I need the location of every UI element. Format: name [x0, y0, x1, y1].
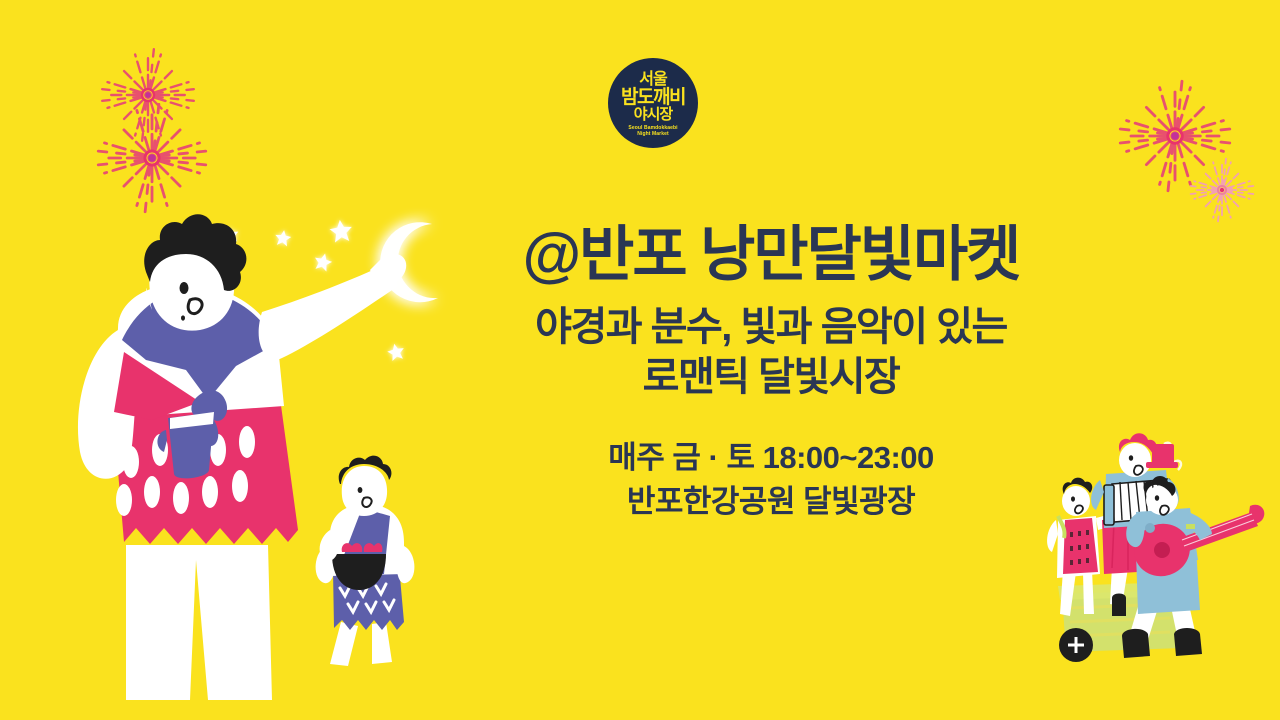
logo-text-line1: 서울: [639, 72, 666, 88]
logo-text-line3: 야시장: [634, 107, 672, 122]
logo-text-line2: 밤도깨비: [621, 88, 685, 107]
subtitle-line-2: 로맨틱 달빛시장: [440, 352, 1102, 402]
schedule-text: 매주 금 · 토 18:00~23:00: [440, 436, 1102, 480]
boot: [1112, 594, 1126, 617]
brand-logo[interactable]: 서울 밤도깨비 야시장 Seoul BamdokkaebiNight Marke…: [608, 58, 698, 148]
poster-info-block: 매주 금 · 토 18:00~23:00 반포한강공원 달빛광장: [440, 436, 1102, 524]
boot: [1122, 629, 1150, 658]
location-text: 반포한강공원 달빛광장: [440, 480, 1102, 524]
poster-subtitle: 야경과 분수, 빛과 음악이 있는 로맨틱 달빛시장: [440, 302, 1102, 402]
boot: [1174, 628, 1202, 656]
logo-circle: 서울 밤도깨비 야시장 Seoul BamdokkaebiNight Marke…: [608, 58, 698, 148]
poster-text-block: @반포 낭만달빛마켓 야경과 분수, 빛과 음악이 있는 로맨틱 달빛시장 매주…: [440, 222, 1102, 524]
logo-text-english: Seoul BamdokkaebiNight Market: [628, 125, 677, 137]
subtitle-line-1: 야경과 분수, 빛과 음악이 있는: [440, 302, 1102, 352]
page-title: @반포 낭만달빛마켓: [440, 222, 1102, 288]
poster-canvas: 서울 밤도깨비 야시장 Seoul BamdokkaebiNight Marke…: [0, 0, 1280, 720]
